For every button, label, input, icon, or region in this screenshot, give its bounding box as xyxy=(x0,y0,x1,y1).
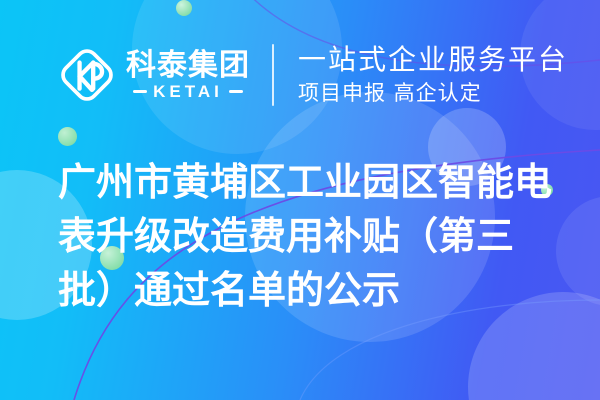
announcement-title: 广州市黄埔区工业园区智能电表升级改造费用补贴（第三批）通过名单的公示 xyxy=(58,156,558,318)
ketai-diamond-kd-logo-icon xyxy=(56,44,118,106)
brand-en-row: KETAI xyxy=(133,83,243,100)
header-divider xyxy=(272,44,274,106)
brand-lockup: 科泰集团 KETAI xyxy=(56,44,250,106)
slogan-group: 一站式企业服务平台 项目申报 高企认定 xyxy=(298,43,568,107)
banner-header: 科泰集团 KETAI 一站式企业服务平台 项目申报 高企认定 xyxy=(0,36,600,114)
slogan-primary: 一站式企业服务平台 xyxy=(298,43,568,76)
brand-name-cn: 科泰集团 xyxy=(126,50,250,82)
brand-rule-left xyxy=(133,90,147,93)
brand-name-en: KETAI xyxy=(153,83,223,100)
brand-rule-right xyxy=(229,90,243,93)
accent-dot-upper-left xyxy=(58,127,77,146)
slogan-secondary: 项目申报 高企认定 xyxy=(298,80,568,107)
brand-wordmark: 科泰集团 KETAI xyxy=(126,50,250,101)
announcement-banner: 科泰集团 KETAI 一站式企业服务平台 项目申报 高企认定 广州市黄埔区工业园… xyxy=(0,0,600,400)
decorative-circle-right-lower xyxy=(556,196,600,306)
accent-dot-top xyxy=(176,0,192,16)
